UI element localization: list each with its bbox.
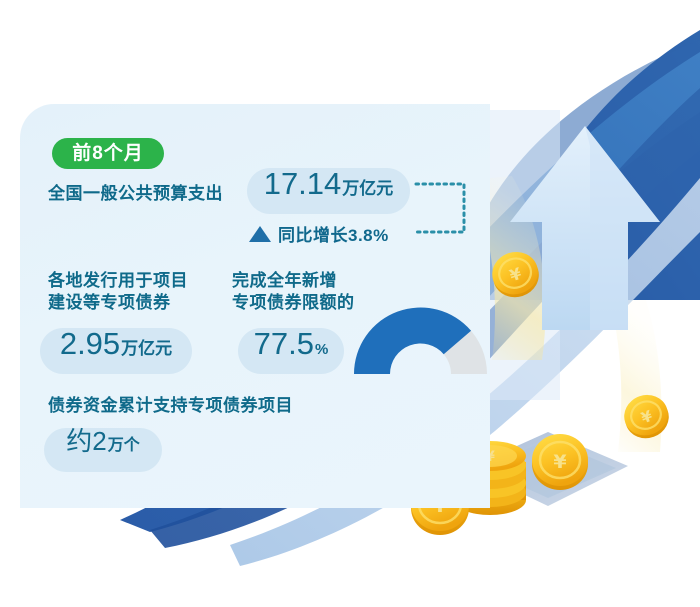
infographic-poster: ¥ ¥ ¥ ¥ ¥ [0, 0, 700, 607]
metric-value-number: 77.5 [254, 328, 314, 359]
metric-label-quota-share: 完成全年新增 专项债券限额的 [232, 270, 355, 314]
metric-label-special-bonds-issued: 各地发行用于项目 建设等专项债券 [48, 270, 188, 314]
growth-text: 同比增长3.8% [278, 221, 389, 246]
metric-value-number: 17.14 [264, 168, 342, 199]
dotted-bracket-icon [414, 178, 468, 238]
metric-label-budget-expenditure: 全国一般公共预算支出 [48, 183, 223, 205]
metric-value-number: 约2 [66, 428, 106, 454]
metric-value-projects-supported: 约2 万个 [44, 428, 162, 472]
triangle-up-icon [249, 226, 271, 242]
metric-value-unit: 万个 [108, 438, 140, 454]
progress-gauge-chart [348, 288, 493, 380]
metric-value-unit: 万亿元 [121, 340, 172, 357]
coin-yuan-icon: ¥ [532, 434, 588, 490]
metric-value-unit: % [315, 342, 328, 357]
metric-value-number: 2.95 [60, 328, 120, 359]
growth-indicator: 同比增长3.8% [249, 221, 389, 246]
metric-value-budget-expenditure: 17.14 万亿元 [247, 168, 410, 214]
period-badge: 前8个月 [52, 138, 164, 169]
metric-value-unit: 万亿元 [342, 180, 393, 197]
metric-value-special-bonds-issued: 2.95 万亿元 [40, 328, 192, 374]
metric-value-quota-share: 77.5 % [238, 328, 344, 374]
metric-label-projects-supported: 债券资金累计支持专项债券项目 [48, 395, 293, 417]
svg-text:¥: ¥ [553, 451, 566, 473]
period-badge-label: 前8个月 [72, 144, 144, 163]
